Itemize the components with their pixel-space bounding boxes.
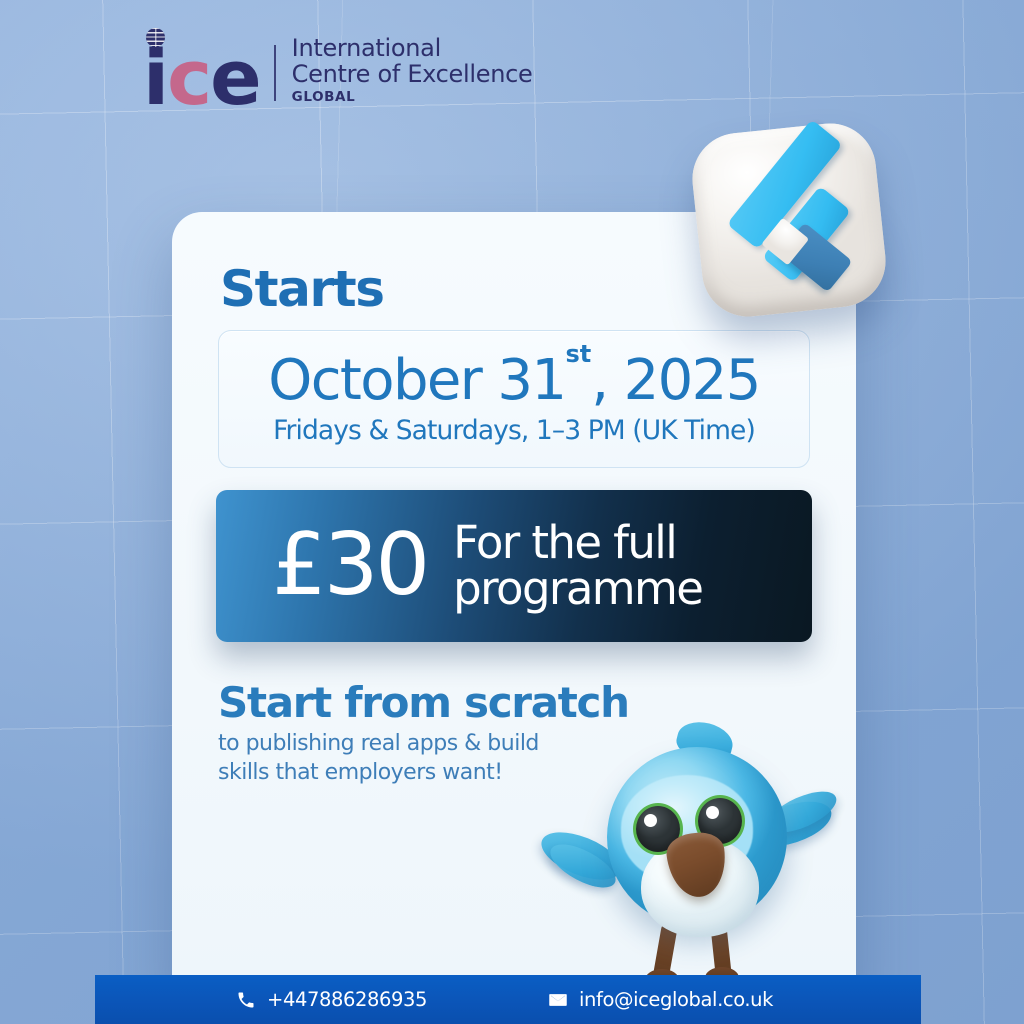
logo-wordmark: i c e: [143, 48, 260, 109]
contact-email[interactable]: info@iceglobal.co.uk: [547, 988, 773, 1011]
phone-icon: [235, 989, 257, 1011]
logo-subtitle-line3: GLOBAL: [292, 89, 533, 105]
price-banner: £30 For the full programme: [216, 490, 812, 642]
contact-footer-bar: +447886286935 info@iceglobal.co.uk: [95, 975, 921, 1024]
bird-right-eye-glint: [706, 806, 719, 819]
logo-letter-e: e: [210, 48, 260, 109]
blue-bird-mascot: [537, 717, 837, 1002]
poster-canvas: i c e International Centre of Excellence…: [0, 0, 1024, 1024]
logo-letter-i: i: [143, 48, 167, 109]
date-year: , 2025: [591, 348, 760, 413]
brand-logo[interactable]: i c e International Centre of Excellence…: [143, 36, 533, 109]
scratch-body-line1: to publishing real apps & build: [218, 730, 539, 759]
date-main-line: October 31st, 2025: [268, 352, 759, 409]
price-label-line2: programme: [453, 566, 702, 612]
contact-phone[interactable]: +447886286935: [235, 988, 427, 1011]
contact-phone-text: +447886286935: [267, 988, 427, 1011]
logo-subtitle: International Centre of Excellence GLOBA…: [292, 36, 533, 109]
contact-email-text: info@iceglobal.co.uk: [579, 988, 773, 1011]
logo-divider: [274, 45, 276, 101]
scratch-body: to publishing real apps & build skills t…: [218, 730, 539, 787]
date-ordinal: st: [565, 340, 591, 368]
globe-icon: [146, 28, 165, 47]
date-schedule: Fridays & Saturdays, 1–3 PM (UK Time): [273, 415, 755, 446]
starts-heading: Starts: [220, 260, 384, 318]
date-month-day: October 31: [268, 348, 565, 413]
logo-subtitle-line2: Centre of Excellence: [292, 62, 533, 88]
price-label: For the full programme: [453, 520, 702, 612]
scratch-body-line2: skills that employers want!: [218, 759, 539, 788]
price-amount: £30: [272, 525, 427, 607]
logo-subtitle-line1: International: [292, 36, 533, 62]
bird-left-eye-glint: [644, 814, 657, 827]
logo-letter-c: c: [167, 48, 210, 109]
price-label-line1: For the full: [453, 520, 702, 566]
envelope-icon: [547, 989, 569, 1011]
date-panel: October 31st, 2025 Fridays & Saturdays, …: [218, 330, 810, 468]
flutter-logo-icon: [688, 119, 890, 321]
main-card: Starts October 31st, 2025 Fridays & Satu…: [172, 212, 856, 1002]
